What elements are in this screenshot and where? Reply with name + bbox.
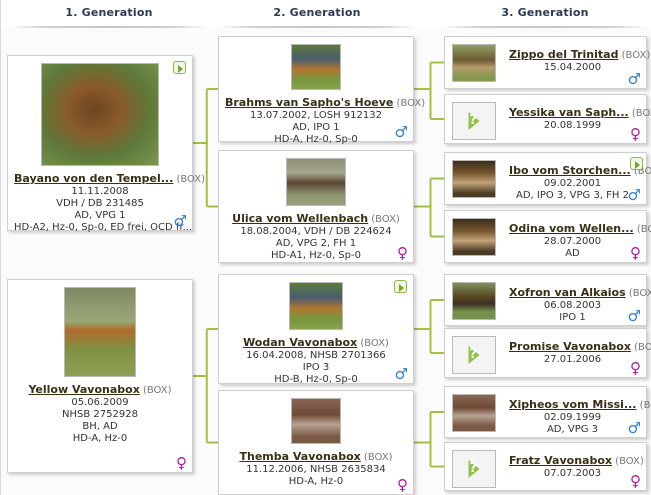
pedigree-card[interactable]: Xipheos vom Missi... (BOX)02.09.1999AD, … bbox=[444, 386, 647, 438]
dog-breed-label: (BOX) bbox=[618, 50, 650, 61]
dog-detail-line: 02.09.1999 bbox=[509, 412, 636, 424]
dog-detail-line: 11.12.2006, NHSB 2635834 bbox=[225, 464, 407, 476]
dog-name-link[interactable]: Bayano von den Tempel... bbox=[14, 172, 173, 185]
dog-detail-line: HD-A2, Hz-0, Sp-0, ED frei, OCD fr... bbox=[14, 222, 186, 234]
dog-name-line: Yellow Vavonabox (BOX) bbox=[14, 381, 186, 397]
card-text: Xipheos vom Missi... (BOX)02.09.1999AD, … bbox=[509, 396, 640, 436]
pedigree-card[interactable]: Brahms van Sapho's Hoeve (BOX)13.07.2002… bbox=[218, 36, 414, 142]
unknown-dog-placeholder-icon bbox=[452, 102, 496, 140]
dog-name-line: Ibo vom Storchen... (BOX) bbox=[509, 162, 636, 178]
dog-name-link[interactable]: Yessika van Saph... bbox=[509, 106, 629, 119]
dog-breed-label: (BOX) bbox=[173, 174, 205, 185]
dog-name-line: Promise Vavonabox (BOX) bbox=[509, 338, 636, 354]
dog-detail-line: AD, VPG 3 bbox=[509, 424, 636, 436]
dog-detail-line: HD-A, Hz-0 bbox=[225, 476, 407, 488]
card-content: Wodan Vavonabox (BOX)16.04.2008, NHSB 27… bbox=[219, 275, 413, 383]
dog-photo[interactable] bbox=[291, 398, 341, 444]
female-symbol-icon: ♀ bbox=[630, 246, 641, 261]
dog-name-line: Themba Vavonabox (BOX) bbox=[225, 448, 407, 464]
dog-photo[interactable] bbox=[452, 44, 496, 82]
dog-detail-line: 09.02.2001 bbox=[509, 178, 636, 190]
male-symbol-icon: ♂ bbox=[395, 367, 408, 382]
card-text: Ibo vom Storchen... (BOX)09.02.2001AD, I… bbox=[509, 162, 640, 202]
play-video-icon[interactable] bbox=[173, 61, 186, 74]
dog-detail-line: 11.11.2008 bbox=[14, 186, 186, 198]
dog-detail-line: AD, IPO 1 bbox=[225, 122, 407, 134]
dog-name-link[interactable]: Zippo del Trinitad bbox=[509, 48, 618, 61]
dog-detail-line: AD bbox=[509, 248, 636, 260]
dog-breed-label: (BOX) bbox=[612, 456, 644, 467]
dog-detail-line: AD, VPG 2, FH 1 bbox=[225, 238, 407, 250]
generation-header-row: 1. Generation 2. Generation 3. Generatio… bbox=[1, 0, 651, 28]
dog-name-link[interactable]: Promise Vavonabox bbox=[509, 340, 631, 353]
male-symbol-icon: ♂ bbox=[628, 421, 641, 436]
card-content: Promise Vavonabox (BOX)27.01.2006 bbox=[445, 329, 646, 377]
dog-name-line: Bayano von den Tempel... (BOX) bbox=[14, 170, 186, 186]
female-symbol-icon: ♀ bbox=[397, 246, 408, 261]
dog-breed-label: (BOX) bbox=[361, 452, 393, 463]
dog-name-link[interactable]: Odina vom Wellen... bbox=[509, 222, 634, 235]
dog-detail-line: IPO 3 bbox=[225, 362, 407, 374]
female-symbol-icon: ♀ bbox=[630, 127, 641, 142]
pedigree-card[interactable]: Odina vom Wellen... (BOX)28.07.2000AD♀ bbox=[444, 210, 647, 263]
dog-breed-label: (BOX) bbox=[368, 214, 400, 225]
dog-detail-line: 20.08.1999 bbox=[509, 120, 636, 132]
dog-name-line: Xofron van Alkaios (BOX) bbox=[509, 284, 636, 300]
dog-name-link[interactable]: Wodan Vavonabox bbox=[243, 336, 357, 349]
dog-detail-line: 27.01.2006 bbox=[509, 354, 636, 366]
pedigree-card[interactable]: Ulica vom Wellenbach (BOX)18.08.2004, VD… bbox=[218, 150, 414, 263]
dog-detail-line: 06.08.2003 bbox=[509, 300, 636, 312]
pedigree-card[interactable]: Promise Vavonabox (BOX)27.01.2006♀ bbox=[444, 328, 647, 378]
dog-detail-line: NHSB 2752928 bbox=[14, 409, 186, 421]
card-text: Fratz Vavonabox (BOX)07.07.2003 bbox=[509, 452, 640, 480]
card-content: Xofron van Alkaios (BOX)06.08.2003IPO 1 bbox=[445, 275, 646, 325]
dog-breed-label: (BOX) bbox=[140, 385, 172, 396]
generation-header-3-label: 3. Generation bbox=[501, 6, 588, 19]
card-content: Yellow Vavonabox (BOX)05.06.2009NHSB 275… bbox=[8, 280, 192, 472]
dog-name-link[interactable]: Ibo vom Storchen... bbox=[509, 164, 631, 177]
dog-detail-line: HD-A, Hz-0 bbox=[14, 433, 186, 445]
pedigree-card[interactable]: Bayano von den Tempel... (BOX)11.11.2008… bbox=[7, 55, 193, 231]
pedigree-chart: 1. Generation 2. Generation 3. Generatio… bbox=[0, 0, 651, 495]
dog-detail-line: IPO 1 bbox=[509, 312, 636, 324]
dog-breed-label: (BOX) bbox=[637, 400, 651, 411]
pedigree-card[interactable]: Yellow Vavonabox (BOX)05.06.2009NHSB 275… bbox=[7, 279, 193, 473]
pedigree-card[interactable]: Themba Vavonabox (BOX)11.12.2006, NHSB 2… bbox=[218, 390, 414, 495]
card-content: Ulica vom Wellenbach (BOX)18.08.2004, VD… bbox=[219, 151, 413, 262]
card-content: Brahms van Sapho's Hoeve (BOX)13.07.2002… bbox=[219, 37, 413, 141]
dog-name-line: Ulica vom Wellenbach (BOX) bbox=[225, 210, 407, 226]
unknown-dog-placeholder-icon bbox=[452, 450, 496, 488]
dog-detail-line: 16.04.2008, NHSB 2701366 bbox=[225, 350, 407, 362]
dog-detail-line: HD-A1, Hz-0, Sp-0 bbox=[225, 250, 407, 262]
dog-detail-line: HD-B, Hz-0, Sp-0 bbox=[225, 374, 407, 386]
male-symbol-icon: ♂ bbox=[395, 125, 408, 140]
play-video-icon[interactable] bbox=[394, 280, 407, 293]
dog-breed-label: (BOX) bbox=[629, 108, 651, 119]
card-content: Odina vom Wellen... (BOX)28.07.2000AD bbox=[445, 211, 646, 262]
pedigree-card[interactable]: Wodan Vavonabox (BOX)16.04.2008, NHSB 27… bbox=[218, 274, 414, 384]
dog-name-link[interactable]: Ulica vom Wellenbach bbox=[232, 212, 368, 225]
card-text: Xofron van Alkaios (BOX)06.08.2003IPO 1 bbox=[509, 284, 640, 324]
dog-detail-line: 07.07.2003 bbox=[509, 468, 636, 480]
dog-detail-line: AD, IPO 3, VPG 3, FH 2 bbox=[509, 190, 636, 202]
pedigree-card[interactable]: Xofron van Alkaios (BOX)06.08.2003IPO 1♂ bbox=[444, 274, 647, 326]
card-content: Fratz Vavonabox (BOX)07.07.2003 bbox=[445, 443, 646, 490]
dog-name-line: Xipheos vom Missi... (BOX) bbox=[509, 396, 636, 412]
pedigree-card[interactable]: Zippo del Trinitad (BOX)15.04.2000♂ bbox=[444, 36, 647, 89]
male-symbol-icon: ♂ bbox=[174, 214, 187, 229]
dog-name-link[interactable]: Brahms van Sapho's Hoeve bbox=[225, 96, 393, 109]
dog-name-link[interactable]: Yellow Vavonabox bbox=[28, 383, 139, 396]
dog-name-line: Zippo del Trinitad (BOX) bbox=[509, 46, 636, 62]
female-symbol-icon: ♀ bbox=[176, 456, 187, 471]
dog-breed-label: (BOX) bbox=[631, 342, 651, 353]
dog-detail-line: 18.08.2004, VDH / DB 224624 bbox=[225, 226, 407, 238]
dog-detail-line: 05.06.2009 bbox=[14, 397, 186, 409]
dog-photo[interactable] bbox=[452, 394, 496, 432]
pedigree-card[interactable]: Fratz Vavonabox (BOX)07.07.2003♀ bbox=[444, 442, 647, 491]
generation-header-2: 2. Generation bbox=[217, 0, 417, 28]
generation-header-3: 3. Generation bbox=[441, 0, 649, 28]
dog-detail-line: AD, VPG 1 bbox=[14, 210, 186, 222]
card-content: Themba Vavonabox (BOX)11.12.2006, NHSB 2… bbox=[219, 391, 413, 494]
dog-detail-line: 13.07.2002, LOSH 912132 bbox=[225, 110, 407, 122]
generation-header-2-label: 2. Generation bbox=[273, 6, 360, 19]
pedigree-canvas: Bayano von den Tempel... (BOX)11.11.2008… bbox=[1, 28, 651, 495]
dog-photo[interactable] bbox=[64, 287, 136, 377]
dog-breed-label: (BOX) bbox=[634, 224, 651, 235]
dog-detail-line: BH, AD bbox=[14, 421, 186, 433]
generation-header-1-label: 1. Generation bbox=[65, 6, 152, 19]
card-content: Xipheos vom Missi... (BOX)02.09.1999AD, … bbox=[445, 387, 646, 437]
dog-name-line: Wodan Vavonabox (BOX) bbox=[225, 334, 407, 350]
dog-detail-line: 28.07.2000 bbox=[509, 236, 636, 248]
dog-photo[interactable] bbox=[452, 282, 496, 320]
dog-detail-line: HD-A, Hz-0, Sp-0 bbox=[225, 134, 407, 146]
dog-name-link[interactable]: Themba Vavonabox bbox=[240, 450, 361, 463]
dog-name-line: Yessika van Saph... (BOX) bbox=[509, 104, 636, 120]
card-content: Yessika van Saph... (BOX)20.08.1999 bbox=[445, 95, 646, 143]
female-symbol-icon: ♀ bbox=[397, 478, 408, 493]
card-content: Ibo vom Storchen... (BOX)09.02.2001AD, I… bbox=[445, 153, 646, 204]
male-symbol-icon: ♂ bbox=[628, 72, 641, 87]
dog-name-link[interactable]: Fratz Vavonabox bbox=[509, 454, 612, 467]
dog-name-line: Odina vom Wellen... (BOX) bbox=[509, 220, 636, 236]
dog-photo[interactable] bbox=[291, 44, 341, 90]
dog-breed-label: (BOX) bbox=[393, 98, 425, 109]
female-symbol-icon: ♀ bbox=[630, 474, 641, 489]
unknown-dog-placeholder-icon bbox=[452, 336, 496, 374]
generation-header-1: 1. Generation bbox=[9, 0, 209, 28]
dog-photo[interactable] bbox=[286, 158, 346, 206]
male-symbol-icon: ♂ bbox=[628, 309, 641, 324]
dog-photo[interactable] bbox=[452, 160, 496, 198]
card-text: Zippo del Trinitad (BOX)15.04.2000 bbox=[509, 46, 640, 74]
dog-name-line: Fratz Vavonabox (BOX) bbox=[509, 452, 636, 468]
dog-name-link[interactable]: Xofron van Alkaios bbox=[509, 286, 626, 299]
dog-name-link[interactable]: Xipheos vom Missi... bbox=[509, 398, 637, 411]
card-content: Zippo del Trinitad (BOX)15.04.2000 bbox=[445, 37, 646, 88]
card-content: Bayano von den Tempel... (BOX)11.11.2008… bbox=[8, 56, 192, 230]
card-text: Promise Vavonabox (BOX)27.01.2006 bbox=[509, 338, 640, 366]
male-symbol-icon: ♂ bbox=[628, 188, 641, 203]
card-text: Yessika van Saph... (BOX)20.08.1999 bbox=[509, 104, 640, 132]
pedigree-card[interactable]: Ibo vom Storchen... (BOX)09.02.2001AD, I… bbox=[444, 152, 647, 205]
pedigree-card[interactable]: Yessika van Saph... (BOX)20.08.1999♀ bbox=[444, 94, 647, 144]
dog-name-line: Brahms van Sapho's Hoeve (BOX) bbox=[225, 94, 407, 110]
female-symbol-icon: ♀ bbox=[630, 361, 641, 376]
play-video-icon[interactable] bbox=[630, 157, 643, 170]
card-text: Odina vom Wellen... (BOX)28.07.2000AD bbox=[509, 220, 640, 260]
dog-detail-line: VDH / DB 231485 bbox=[14, 198, 186, 210]
dog-breed-label: (BOX) bbox=[357, 338, 389, 349]
dog-breed-label: (BOX) bbox=[626, 288, 651, 299]
dog-photo[interactable] bbox=[289, 282, 343, 330]
dog-detail-line: 15.04.2000 bbox=[509, 62, 636, 74]
dog-photo[interactable] bbox=[452, 218, 496, 256]
dog-photo[interactable] bbox=[41, 63, 159, 166]
